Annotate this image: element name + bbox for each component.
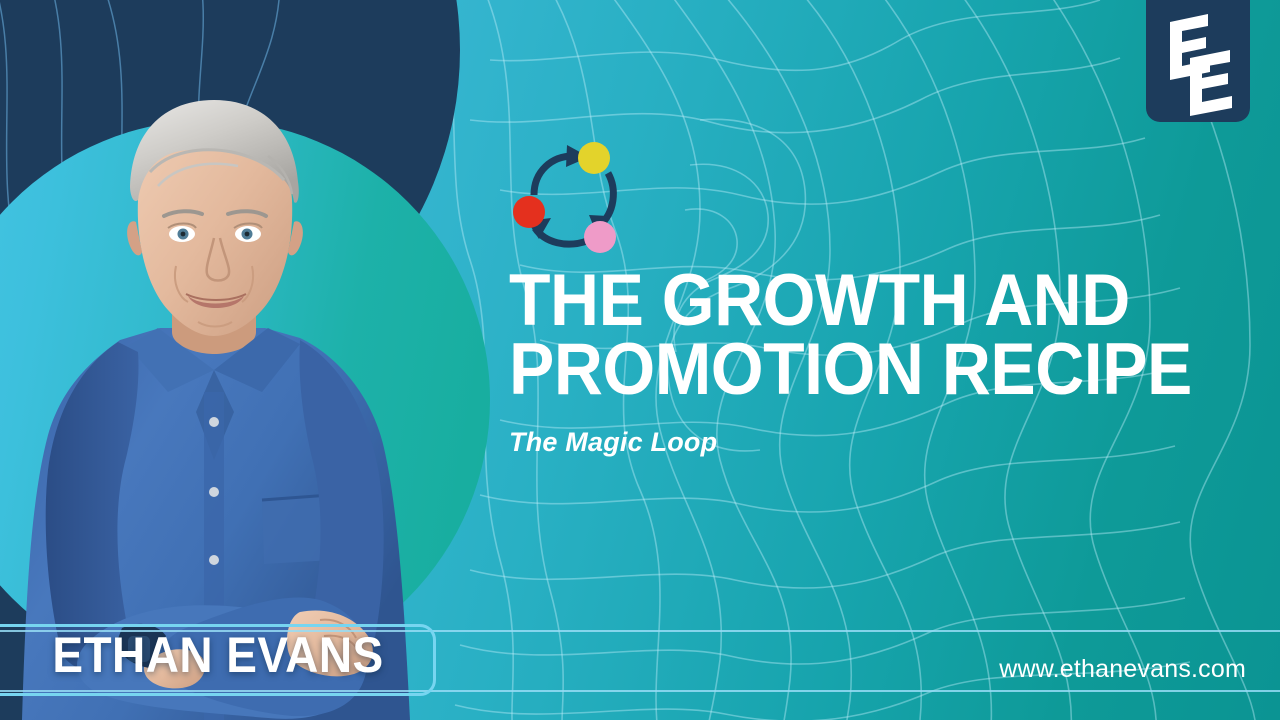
slide-title: THE GROWTH AND PROMOTION RECIPE: [509, 266, 1216, 405]
title-block: THE GROWTH AND PROMOTION RECIPE The Magi…: [509, 266, 1269, 458]
presentation-slide: THE GROWTH AND PROMOTION RECIPE The Magi…: [0, 0, 1280, 720]
double-e-monogram-icon: [1146, 0, 1250, 122]
loop-node-pink: [584, 221, 616, 253]
ethan-evans-logo-badge[interactable]: [1146, 0, 1250, 122]
slide-subtitle: The Magic Loop: [509, 427, 1269, 458]
speaker-name: ETHAN EVANS: [17, 626, 418, 684]
loop-node-red: [513, 196, 545, 228]
speaker-portrait: [0, 40, 450, 720]
loop-node-yellow: [578, 142, 610, 174]
website-url[interactable]: www.ethanevans.com: [999, 655, 1246, 684]
magic-loop-cycle-icon: [505, 133, 635, 263]
